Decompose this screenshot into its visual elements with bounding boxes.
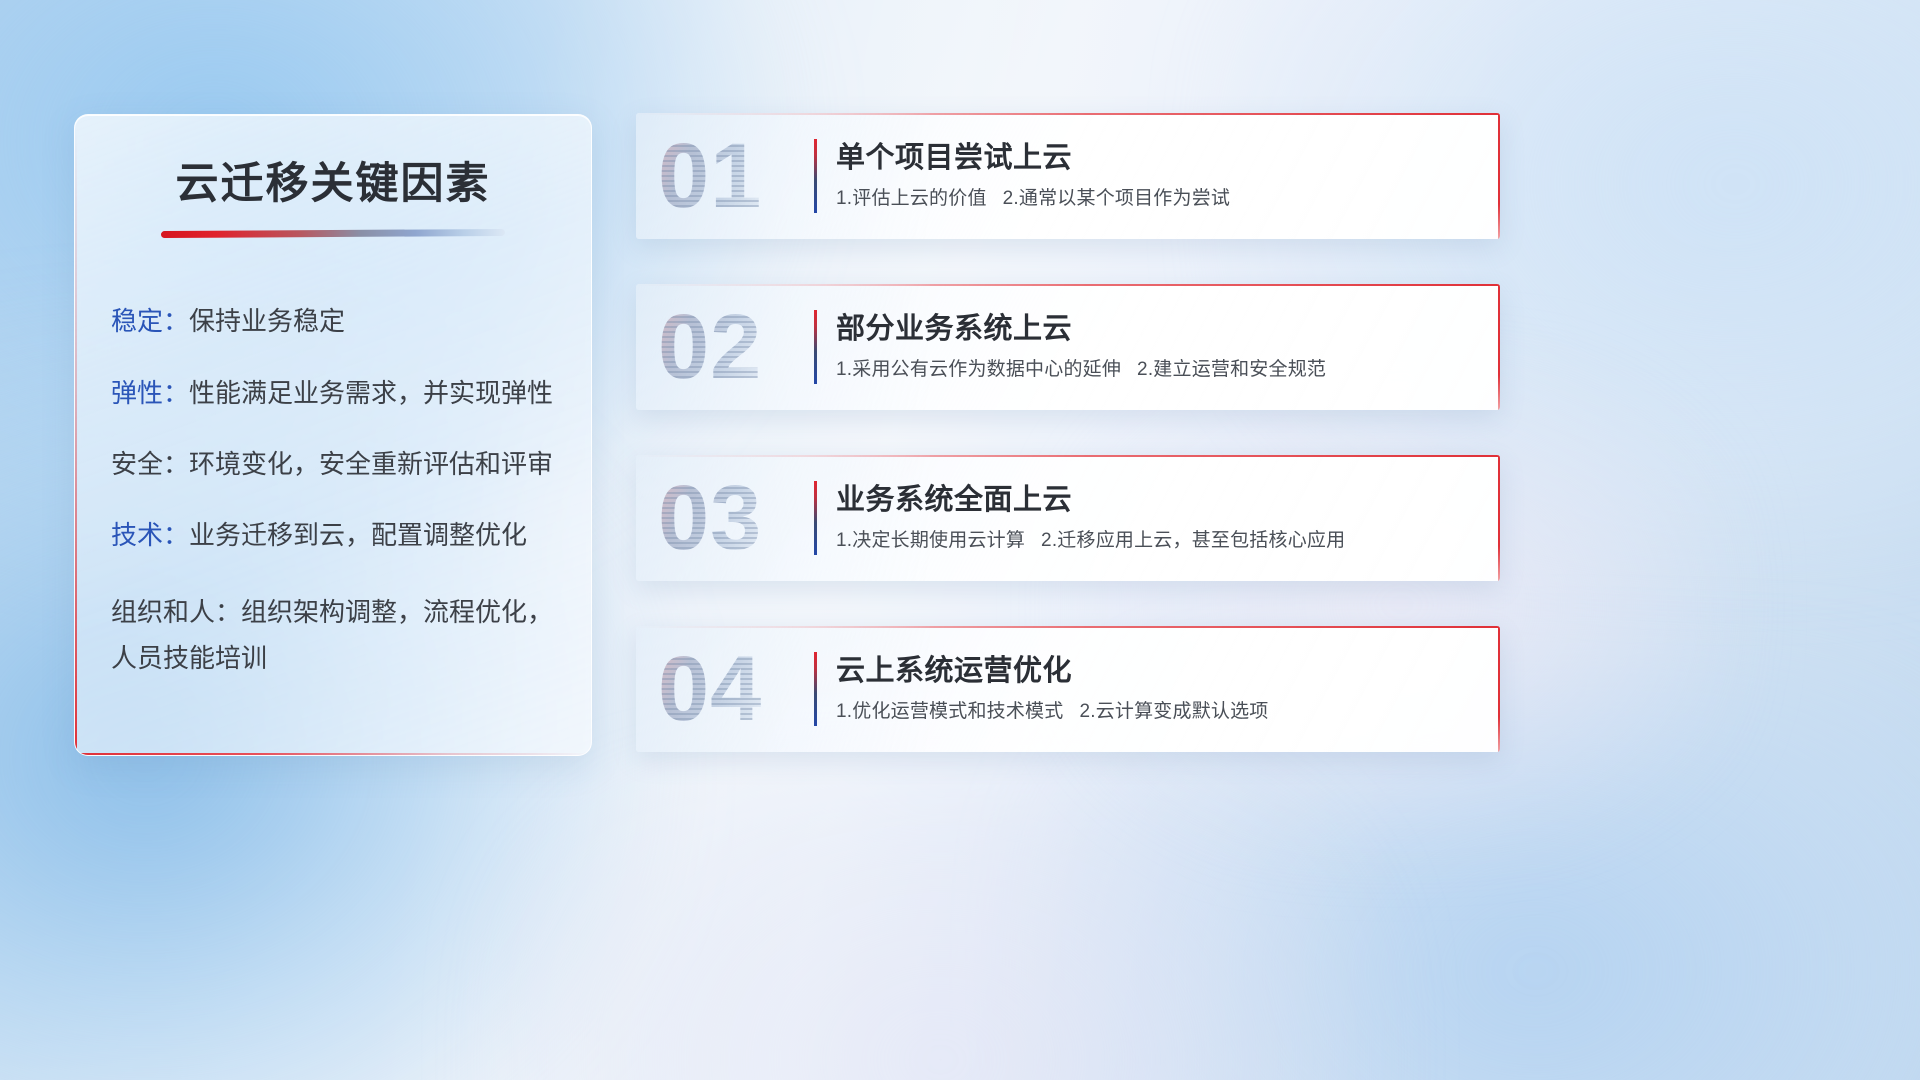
key-factor-text: 保持业务稳定 [189,306,345,336]
migration-step-card[interactable]: 02部分业务系统上云1.采用公有云作为数据中心的延伸2.建立运营和安全规范 [636,284,1500,410]
step-detail-line: 1.评估上云的价值2.通常以某个项目作为尝试 [836,187,1476,211]
key-factor-item: 组织和人：组织架构调整，流程优化，人员技能培训 [111,590,561,681]
key-factor-text: 环境变化，安全重新评估和评审 [189,449,553,479]
key-factor-label: 弹性： [111,378,189,408]
key-factor-label: 技术： [111,520,189,550]
step-body: 部分业务系统上云1.采用公有云作为数据中心的延伸2.建立运营和安全规范 [836,312,1476,382]
step-body: 业务系统全面上云1.决定长期使用云计算2.迁移应用上云，甚至包括核心应用 [836,483,1476,553]
key-factor-label: 安全： [111,449,189,479]
step-accent-bar [814,652,817,726]
step-detail-item-1: 1.决定长期使用云计算 [836,530,1025,551]
step-detail-line: 1.决定长期使用云计算2.迁移应用上云，甚至包括核心应用 [836,529,1476,553]
step-accent-bar [814,310,817,384]
step-body: 单个项目尝试上云1.评估上云的价值2.通常以某个项目作为尝试 [836,141,1476,211]
migration-steps-list: 01单个项目尝试上云1.评估上云的价值2.通常以某个项目作为尝试02部分业务系统… [636,113,1500,797]
key-factor-item: 技术：业务迁移到云，配置调整优化 [111,519,561,552]
step-accent-bar [814,481,817,555]
step-number-watermark: 02 [658,301,762,393]
step-detail-item-2: 2.迁移应用上云，甚至包括核心应用 [1041,530,1345,551]
step-detail-item-2: 2.云计算变成默认选项 [1079,701,1268,722]
step-detail-item-1: 1.优化运营模式和技术模式 [836,701,1063,722]
step-body: 云上系统运营优化1.优化运营模式和技术模式2.云计算变成默认选项 [836,654,1476,724]
migration-step-card[interactable]: 01单个项目尝试上云1.评估上云的价值2.通常以某个项目作为尝试 [636,113,1500,239]
migration-step-card[interactable]: 04云上系统运营优化1.优化运营模式和技术模式2.云计算变成默认选项 [636,626,1500,752]
step-heading: 云上系统运营优化 [836,654,1476,689]
step-detail-line: 1.优化运营模式和技术模式2.云计算变成默认选项 [836,700,1476,724]
step-detail-line: 1.采用公有云作为数据中心的延伸2.建立运营和安全规范 [836,358,1476,382]
key-factor-label: 稳定： [111,306,189,336]
slide-stage: 云迁移关键因素 稳定：保持业务稳定弹性：性能满足业务需求，并实现弹性安全：环境变… [0,0,1920,1080]
key-factor-item: 稳定：保持业务稳定 [111,305,561,338]
key-factor-label: 组织和人： [111,597,241,627]
key-factors-panel: 云迁移关键因素 稳定：保持业务稳定弹性：性能满足业务需求，并实现弹性安全：环境变… [74,114,592,756]
step-detail-item-2: 2.通常以某个项目作为尝试 [1003,188,1230,209]
key-factors-list: 稳定：保持业务稳定弹性：性能满足业务需求，并实现弹性安全：环境变化，安全重新评估… [75,305,591,681]
step-heading: 部分业务系统上云 [836,312,1476,347]
step-number-watermark: 01 [658,130,762,222]
step-number-watermark: 03 [658,472,762,564]
step-heading: 单个项目尝试上云 [836,141,1476,176]
step-heading: 业务系统全面上云 [836,483,1476,518]
step-detail-item-2: 2.建立运营和安全规范 [1137,359,1326,380]
key-factor-item: 弹性：性能满足业务需求，并实现弹性 [111,377,561,410]
step-accent-bar [814,139,817,213]
step-number-watermark: 04 [658,643,762,735]
title-underline-rule [161,229,505,238]
step-detail-item-1: 1.评估上云的价值 [836,188,987,209]
key-factor-text: 业务迁移到云，配置调整优化 [189,520,527,550]
key-factor-text: 性能满足业务需求，并实现弹性 [189,378,553,408]
page-title: 云迁移关键因素 [75,161,591,208]
migration-step-card[interactable]: 03业务系统全面上云1.决定长期使用云计算2.迁移应用上云，甚至包括核心应用 [636,455,1500,581]
key-factor-item: 安全：环境变化，安全重新评估和评审 [111,448,561,481]
step-detail-item-1: 1.采用公有云作为数据中心的延伸 [836,359,1121,380]
